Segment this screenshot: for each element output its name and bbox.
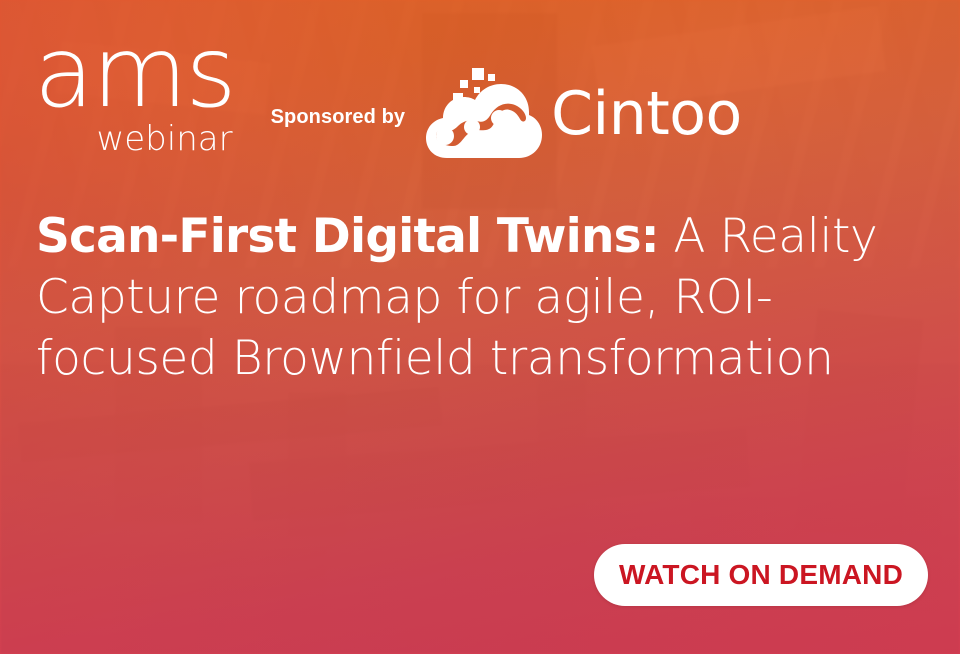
cintoo-logo: Cintoo [425,66,742,162]
sponsored-by-label: Sponsored by [271,106,406,129]
cintoo-cloud-icon [425,66,543,162]
ams-logo: ams webinar [34,28,235,156]
ams-logo-wordmark: ams [34,28,235,118]
webinar-promo-banner: ams webinar Sponsored by [0,0,960,654]
logo-row: ams webinar Sponsored by [34,28,742,162]
watch-on-demand-label: WATCH ON DEMAND [619,559,903,591]
sponsor-block: Sponsored by [271,72,742,162]
watch-on-demand-button[interactable]: WATCH ON DEMAND [594,544,928,606]
cintoo-wordmark: Cintoo [551,84,742,144]
page-title: Scan-First Digital Twins: A Reality Capt… [36,206,946,389]
headline-lead: Scan-First Digital Twins: [36,209,659,264]
ams-logo-subtitle: webinar [96,122,232,156]
